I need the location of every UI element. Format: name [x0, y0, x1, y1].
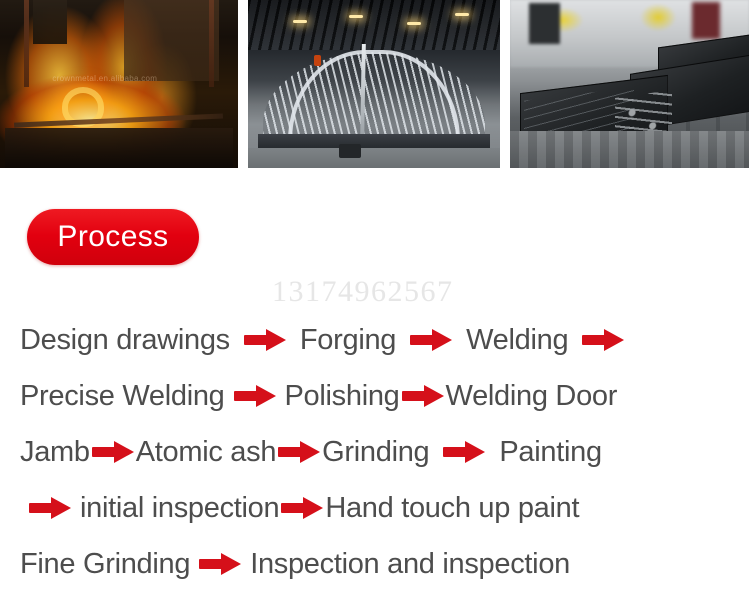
process-step-label: Atomic ash	[136, 438, 276, 467]
arrow-right-icon	[582, 329, 624, 351]
coal-bed	[5, 128, 233, 168]
arrow-head	[424, 385, 444, 407]
workshop-floor	[248, 148, 500, 168]
arrow-head	[465, 441, 485, 463]
arrow-head	[114, 441, 134, 463]
photo-watermark: crownmetal.en.alibaba.com	[52, 74, 157, 83]
process-infographic-page: crownmetal.en.alibaba.com	[0, 0, 749, 597]
workshop-interior-graphic	[248, 0, 500, 168]
process-step-label: initial inspection	[80, 494, 279, 523]
ceiling-lamp	[293, 20, 307, 23]
arrow-head	[604, 329, 624, 351]
process-badge-label: Process	[57, 222, 168, 252]
process-step-label: Precise Welding	[20, 382, 225, 411]
ceiling-lamp	[407, 22, 421, 25]
background-wall-panel	[692, 2, 721, 39]
process-step-label: Welding Door	[446, 382, 618, 411]
arrow-right-icon	[410, 329, 452, 351]
arrow-head	[51, 497, 71, 519]
process-step-label: Polishing	[285, 382, 400, 411]
arrow-right-icon	[443, 441, 485, 463]
arrow-head	[266, 329, 286, 351]
floor-cart	[339, 144, 361, 158]
process-step-label: Welding	[466, 326, 568, 355]
process-step-list: Design drawingsForgingWeldingPrecise Wel…	[20, 312, 735, 592]
iron-bar	[14, 113, 223, 127]
process-step-line: JambAtomic ashGrindingPainting	[20, 424, 735, 480]
door-assembly-area-graphic	[510, 0, 749, 168]
process-step-line: Design drawingsForgingWelding	[20, 312, 735, 368]
arrow-right-icon	[29, 497, 71, 519]
arrow-right-icon	[281, 497, 323, 519]
process-step-label: Jamb	[20, 438, 90, 467]
process-step-line: Precise WeldingPolishingWelding Door	[20, 368, 735, 424]
furnace-backdrop	[124, 0, 219, 81]
arrow-right-icon	[402, 385, 444, 407]
arrow-head	[303, 497, 323, 519]
arrow-head	[300, 441, 320, 463]
steel-arch-frame-photo	[248, 0, 500, 168]
process-step-label: Grinding	[322, 438, 429, 467]
arrow-right-icon	[278, 441, 320, 463]
phone-number-watermark: 13174962567	[272, 275, 454, 309]
roof-trusses	[248, 0, 500, 50]
arch-rib-right	[374, 50, 460, 141]
worker-legs	[33, 0, 66, 44]
photo-strip: crownmetal.en.alibaba.com	[0, 0, 749, 168]
ceiling-lamp	[455, 13, 469, 16]
arrow-right-icon	[92, 441, 134, 463]
process-badge: Process	[27, 209, 199, 265]
process-step-label: Hand touch up paint	[325, 494, 579, 523]
arrow-right-icon	[199, 553, 241, 575]
process-step-label: Forging	[300, 326, 396, 355]
arrow-head	[256, 385, 276, 407]
arrow-right-icon	[234, 385, 276, 407]
ceiling-lamp	[349, 15, 363, 18]
painted-doors-photo	[510, 0, 749, 168]
arrow-head	[221, 553, 241, 575]
background-equipment	[529, 3, 560, 43]
arrow-head	[432, 329, 452, 351]
process-step-label: Painting	[499, 438, 601, 467]
process-step-line: Fine GrindingInspection and inspection	[20, 536, 735, 592]
arrow-right-icon	[244, 329, 286, 351]
process-step-line: initial inspectionHand touch up paint	[20, 480, 735, 536]
furnace-fire-graphic: crownmetal.en.alibaba.com	[0, 0, 238, 168]
process-step-label: Inspection and inspection	[250, 550, 570, 579]
process-step-label: Design drawings	[20, 326, 230, 355]
forging-furnace-photo: crownmetal.en.alibaba.com	[0, 0, 238, 168]
furnace-post-right	[209, 0, 214, 87]
tiled-floor	[510, 131, 749, 168]
process-step-label: Fine Grinding	[20, 550, 190, 579]
furnace-post-left	[24, 0, 29, 87]
worker-figure	[314, 55, 321, 66]
